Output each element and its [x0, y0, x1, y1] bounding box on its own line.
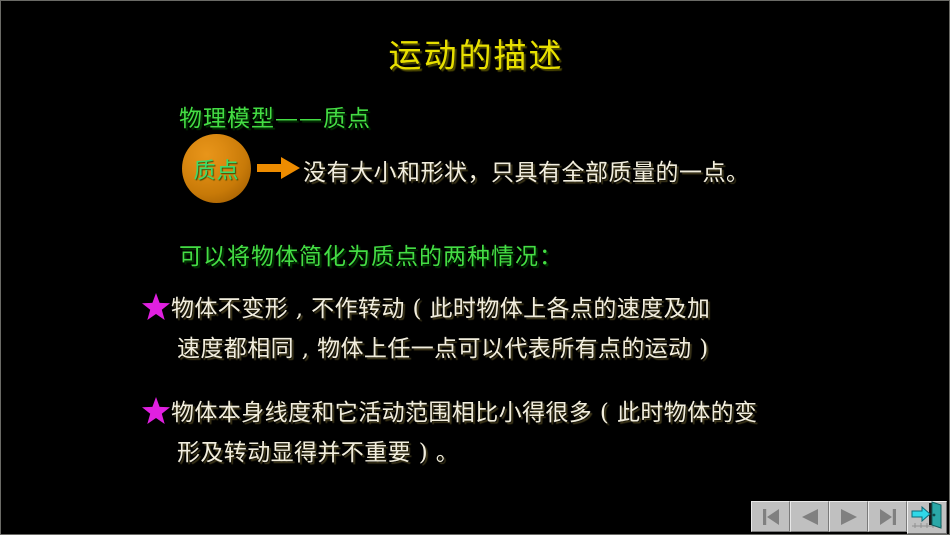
bullet-line: 物体不变形 , 不作转动 ( 此时物体上各点的速度及加: [171, 289, 710, 329]
bullet-item: 物体本身线度和它活动范围相比小得很多 ( 此时物体的变 形及转动显得并不重要 )…: [141, 393, 941, 473]
particle-circle: 质点: [182, 134, 251, 203]
star-icon: [141, 396, 171, 426]
next-icon: [838, 508, 860, 526]
right-arrow-icon: [257, 156, 301, 180]
previous-icon: [799, 508, 821, 526]
section-heading-model: 物理模型——质点: [179, 99, 371, 133]
bullet-line: 速度都相同 , 物体上任一点可以代表所有点的运动 ): [177, 329, 941, 369]
bullet-line: 形及转动显得并不重要 ) 。: [177, 433, 941, 473]
skip-to-end-icon: [877, 508, 899, 526]
bullet-item: 物体不变形 , 不作转动 ( 此时物体上各点的速度及加 速度都相同 , 物体上任…: [141, 289, 941, 369]
last-slide-button[interactable]: [868, 501, 907, 532]
previous-slide-button[interactable]: [790, 501, 829, 532]
slide-navigation-bar: [751, 501, 947, 532]
exit-door-icon: [910, 501, 944, 534]
next-slide-button[interactable]: [829, 501, 868, 532]
skip-to-start-icon: [760, 508, 782, 526]
particle-definition-text: 没有大小和形状，只具有全部质量的一点。: [303, 153, 750, 187]
first-slide-button[interactable]: [751, 501, 790, 532]
exit-button[interactable]: [907, 501, 947, 534]
bullet-line: 物体本身线度和它活动范围相比小得很多 ( 此时物体的变: [171, 393, 757, 433]
particle-circle-label: 质点: [193, 153, 239, 185]
page-title: 运动的描述: [1, 29, 950, 77]
section-heading-cases: 可以将物体简化为质点的两种情况：: [179, 237, 563, 271]
slide-canvas: 运动的描述 物理模型——质点 质点 没有大小和形状，只具有全部质量的一点。 可以…: [0, 0, 950, 535]
star-icon: [141, 292, 171, 322]
